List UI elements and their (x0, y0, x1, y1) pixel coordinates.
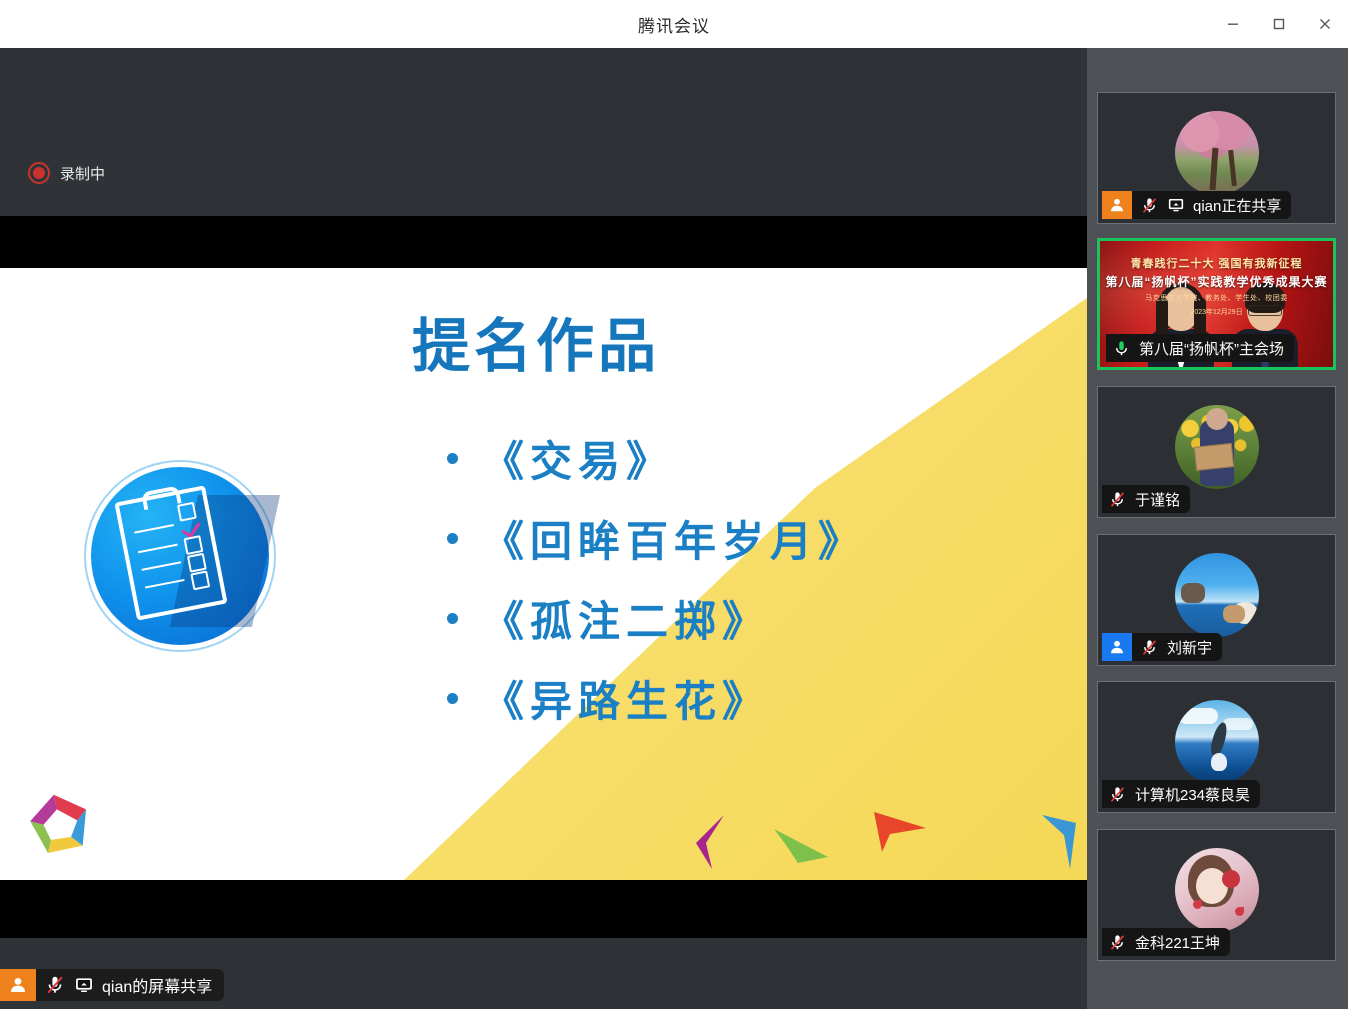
recording-label: 录制中 (60, 163, 105, 184)
screen-share-icon (74, 975, 94, 995)
bullet-label: 《交易》 (482, 428, 674, 489)
mic-muted-icon (1108, 933, 1127, 952)
participant-tile-yujinming[interactable]: 于谨铭 (1097, 386, 1336, 518)
participant-tile-liuxinyu[interactable]: 刘新宇 (1097, 534, 1336, 666)
screen-share-icon (1167, 196, 1185, 214)
title-bar: 腾讯会议 (0, 0, 1348, 49)
avatar (1175, 111, 1259, 195)
avatar (1175, 848, 1259, 932)
stage-top-bar (0, 48, 1087, 168)
clipboard-checklist-icon (84, 460, 276, 652)
letterbox-bottom (0, 880, 1087, 938)
mic-active-icon (1112, 339, 1131, 358)
participant-name-bar: 金科221王坤 (1102, 928, 1230, 956)
decor-arrow-blue-icon (1040, 813, 1086, 871)
list-item: 《孤注二掷》 (447, 578, 967, 658)
participant-tile-cailianghao[interactable]: 计算机234蔡良昊 (1097, 681, 1336, 813)
host-badge-icon (0, 969, 36, 1001)
maximize-button[interactable] (1256, 0, 1302, 48)
participant-name-bar: qian正在共享 (1102, 191, 1291, 219)
bullet-label: 《回眸百年岁月》 (482, 508, 866, 569)
participant-name-bar: 第八届“扬帆杯”主会场 (1106, 334, 1294, 362)
cohost-badge-icon (1102, 633, 1132, 661)
close-button[interactable] (1302, 0, 1348, 48)
screen-share-label-text: qian的屏幕共享 (102, 973, 212, 997)
video-banner-line1: 青春践行二十大 强国有我新征程 (1100, 255, 1333, 271)
participant-name-label: 第八届“扬帆杯”主会场 (1139, 338, 1284, 359)
mic-muted-icon (1140, 196, 1159, 215)
mic-muted-icon (44, 974, 66, 996)
shared-screen-stage[interactable]: 录制中 (0, 48, 1087, 1009)
screen-share-label: qian的屏幕共享 (0, 969, 224, 1001)
bullet-dot-icon (447, 693, 458, 704)
list-item: 《回眸百年岁月》 (447, 498, 967, 578)
participant-name-bar: 计算机234蔡良昊 (1102, 780, 1260, 808)
participant-tile-main-venue[interactable]: 青春践行二十大 强国有我新征程 第八届“扬帆杯”实践教学优秀成果大赛 马克思主义… (1097, 238, 1336, 370)
minimize-button[interactable] (1210, 0, 1256, 48)
host-badge-icon (1102, 191, 1132, 219)
participant-sidebar[interactable]: qian正在共享 (1087, 48, 1348, 1009)
window-title: 腾讯会议 (638, 12, 710, 37)
maximize-icon (1271, 16, 1287, 32)
tencent-meeting-window: 腾讯会议 录制中 (0, 0, 1348, 1009)
mic-muted-icon (1108, 490, 1127, 509)
participant-name-bar: 于谨铭 (1102, 485, 1190, 513)
bullet-dot-icon (447, 613, 458, 624)
slide-bullet-list: 《交易》 《回眸百年岁月》 《孤注二掷》 《异路生花》 (447, 418, 967, 738)
participant-name-label: 于谨铭 (1135, 489, 1180, 510)
avatar (1175, 700, 1259, 784)
bullet-dot-icon (447, 533, 458, 544)
video-banner-line3: 马克思主义学院、教务处、学生处、校团委 (1100, 293, 1333, 303)
decor-arrow-purple-icon (690, 813, 732, 871)
pentagon-logo (26, 790, 94, 858)
bullet-label: 《孤注二掷》 (482, 588, 770, 649)
minimize-icon (1225, 16, 1241, 32)
list-item: 《交易》 (447, 418, 967, 498)
avatar (1175, 405, 1259, 489)
recording-indicator: 录制中 (28, 162, 105, 184)
participant-tile-wangkun[interactable]: 金科221王坤 (1097, 829, 1336, 961)
decor-arrow-red-icon (868, 808, 930, 856)
video-banner-line4: 2023年12月29日 (1100, 307, 1333, 317)
bullet-dot-icon (447, 453, 458, 464)
slide-title: 提名作品 (412, 318, 660, 376)
mic-muted-icon (1140, 638, 1159, 657)
decor-arrow-green-icon (772, 823, 830, 867)
participant-name-bar: 刘新宇 (1102, 633, 1222, 661)
participant-name-label: qian正在共享 (1193, 195, 1281, 216)
list-item: 《异路生花》 (447, 658, 967, 738)
presentation-slide: 提名作品 《交易》 《回眸百年岁月》 《孤注二掷》 《异路生花》 (0, 268, 1087, 880)
participant-name-label: 金科221王坤 (1135, 932, 1220, 953)
participant-name-label: 刘新宇 (1167, 637, 1212, 658)
bullet-label: 《异路生花》 (482, 668, 770, 729)
participant-tile-qian[interactable]: qian正在共享 (1097, 92, 1336, 224)
mic-muted-icon (1108, 785, 1127, 804)
avatar (1175, 553, 1259, 637)
window-controls (1210, 0, 1348, 48)
letterbox-top (0, 216, 1087, 268)
close-icon (1317, 16, 1333, 32)
video-banner-line2: 第八届“扬帆杯”实践教学优秀成果大赛 (1100, 273, 1333, 290)
participant-name-label: 计算机234蔡良昊 (1135, 784, 1250, 805)
record-dot-icon (28, 162, 50, 184)
